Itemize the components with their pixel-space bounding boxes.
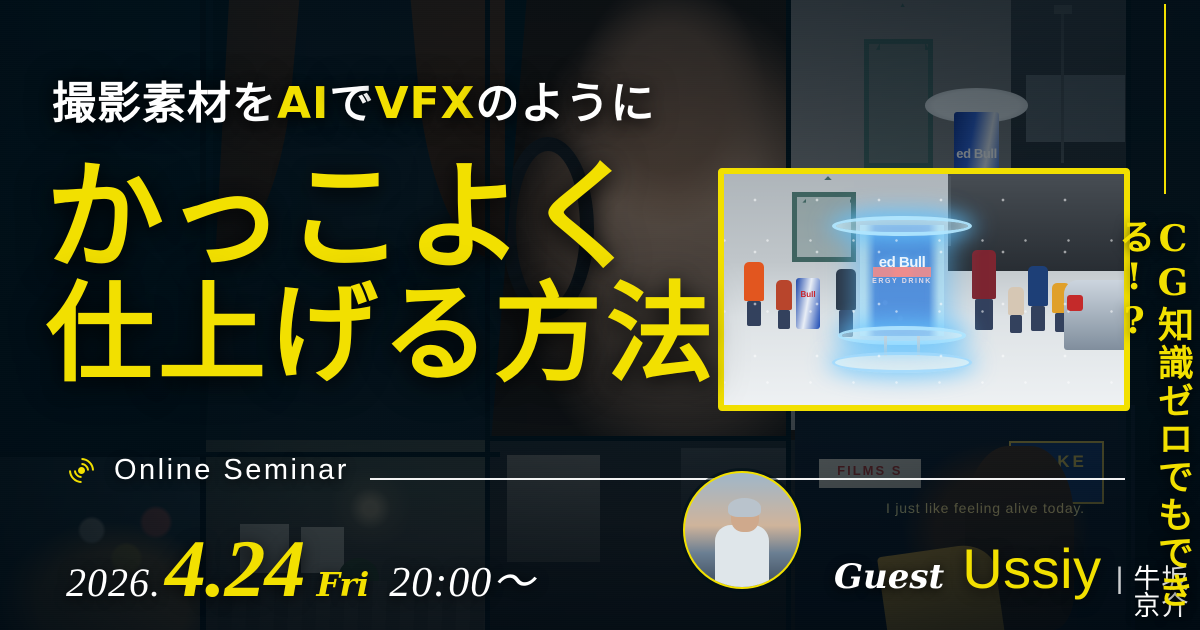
seminar-banner: ed Bull FILMS S <box>0 0 1200 630</box>
kicker-before: 撮影素材を <box>52 78 277 129</box>
headline-line-2: 仕上げる方法 <box>46 283 746 387</box>
page-title: かっこよく 仕上げる方法 <box>46 160 746 387</box>
event-date-row: 2026. 4.24 Fri 20:00〜 <box>66 528 535 610</box>
guest-label: Guest <box>834 560 944 594</box>
online-seminar-label: Online Seminar <box>114 456 349 485</box>
kicker-middle: で <box>329 78 374 129</box>
event-monthday: 4.24 <box>165 528 305 610</box>
guest-avatar <box>683 471 801 589</box>
guest-separator: | <box>1116 564 1124 594</box>
event-year: 2026. <box>66 563 161 603</box>
event-weekday: Fri <box>317 568 370 601</box>
kicker-vfx: VFX <box>374 78 475 129</box>
broadcast-icon <box>62 455 100 485</box>
kicker-line: 撮影素材をAIでVFXのように <box>52 82 655 126</box>
headline-line-1: かっこよく <box>46 147 646 286</box>
online-seminar-row: Online Seminar <box>62 455 349 485</box>
kicker-after: のように <box>475 78 655 129</box>
copy-layer: 撮影素材をAIでVFXのように かっこよく 仕上げる方法 Online Semi… <box>0 0 1200 630</box>
event-time: 20:00〜 <box>389 562 535 604</box>
vertical-copy: CG知識ゼロでもできる!? <box>1142 218 1192 630</box>
guest-name: Ussiy <box>962 541 1101 597</box>
kicker-ai: AI <box>277 78 329 129</box>
vertical-accent-line <box>1164 4 1166 194</box>
